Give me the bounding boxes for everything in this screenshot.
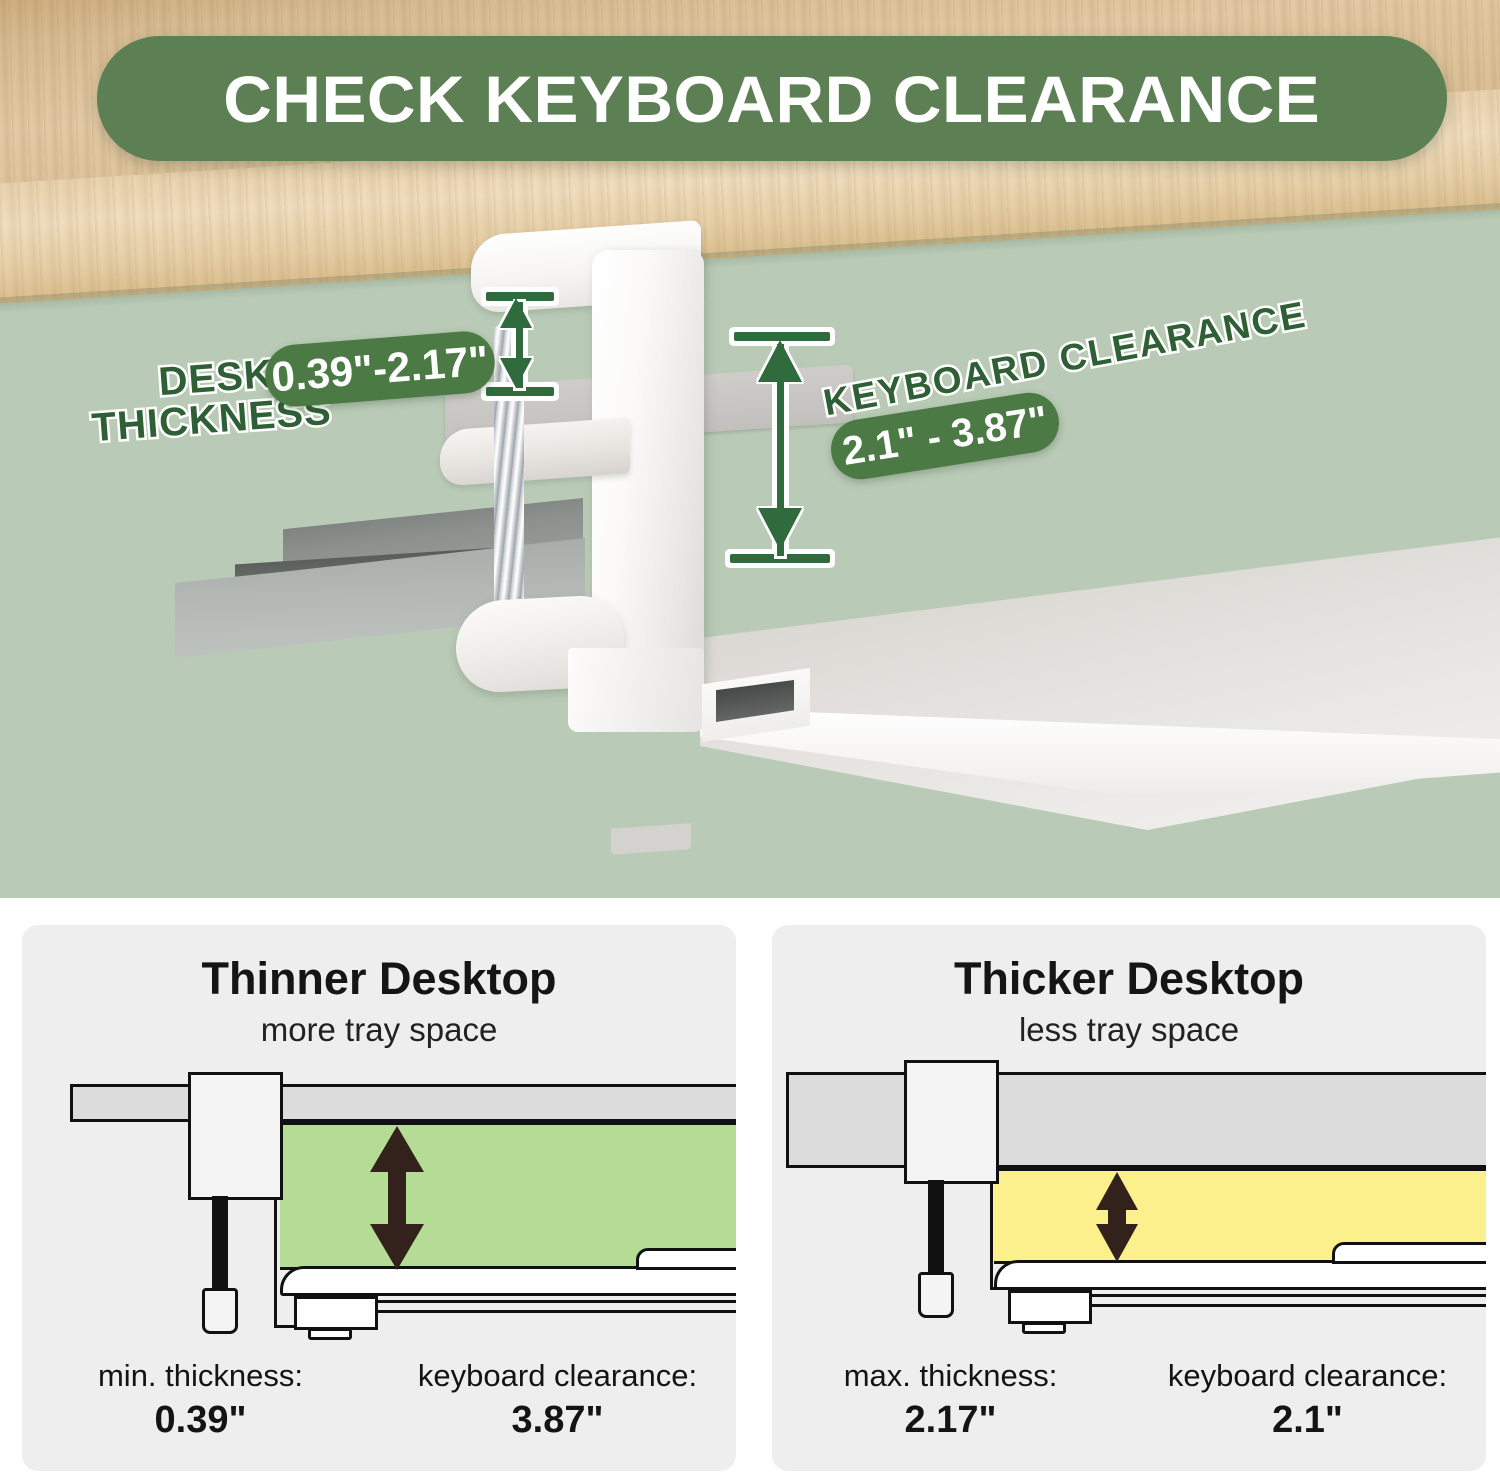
panel-subtitle: more tray space <box>22 1011 736 1049</box>
panel-title: Thinner Desktop <box>22 953 736 1005</box>
tray-bracket-box <box>294 1296 378 1330</box>
tray-underline-2 <box>332 1310 736 1313</box>
panel-footer: min. thickness: 0.39" keyboard clearance… <box>22 1357 736 1445</box>
page-title-banner: CHECK KEYBOARD CLEARANCE <box>97 36 1447 161</box>
desk-thickness-arrow-icon <box>498 292 542 396</box>
keyboard-clearance-caption: KEYBOARD CLEARANCE <box>820 294 1310 425</box>
footer-value: 0.39" <box>22 1396 379 1445</box>
page-title: CHECK KEYBOARD CLEARANCE <box>224 61 1321 137</box>
clamp-knob-foot <box>202 1288 238 1334</box>
footer-col-clearance: keyboard clearance: 2.1" <box>1129 1357 1486 1445</box>
clamp-box <box>904 1060 999 1184</box>
hero-illustration: DESK THICKNESS KEYBOARD CLEARANCE 0.39"-… <box>0 0 1500 898</box>
infographic-page: DESK THICKNESS KEYBOARD CLEARANCE 0.39"-… <box>0 0 1500 1479</box>
panel-title: Thicker Desktop <box>772 953 1486 1005</box>
footer-col-thickness: max. thickness: 2.17" <box>772 1357 1129 1445</box>
desktop-slab-thick <box>786 1072 1486 1168</box>
clamp-screw <box>212 1196 228 1294</box>
footer-label: max. thickness: <box>772 1357 1129 1396</box>
tray-bracket-nub <box>1022 1322 1066 1334</box>
footer-label: min. thickness: <box>22 1357 379 1396</box>
clearance-arrow-icon <box>352 1124 442 1272</box>
clamp-box <box>188 1072 283 1200</box>
desktop-slab-thin <box>70 1084 736 1122</box>
panel-thicker-desktop: Thicker Desktop less tray space <box>772 925 1486 1471</box>
panel-thinner-desktop: Thinner Desktop more tray space <box>22 925 736 1471</box>
tray-lip <box>611 823 691 855</box>
footer-value: 3.87" <box>379 1396 736 1445</box>
panel-footer: max. thickness: 2.17" keyboard clearance… <box>772 1357 1486 1445</box>
keyboard-outline <box>636 1248 736 1270</box>
tray-plate <box>994 1260 1486 1290</box>
footer-col-clearance: keyboard clearance: 3.87" <box>379 1357 736 1445</box>
clearance-arrow-icon <box>1072 1170 1162 1264</box>
footer-col-thickness: min. thickness: 0.39" <box>22 1357 379 1445</box>
tray-bracket-box <box>1008 1290 1092 1324</box>
clamp-foot <box>568 648 704 732</box>
footer-label: keyboard clearance: <box>1129 1357 1486 1396</box>
diagram-thinner <box>22 1060 736 1330</box>
comparison-panels: Thinner Desktop more tray space <box>0 915 1500 1479</box>
footer-label: keyboard clearance: <box>379 1357 736 1396</box>
footer-value: 2.17" <box>772 1396 1129 1445</box>
tray-plate <box>280 1266 736 1296</box>
keyboard-outline <box>1332 1242 1486 1264</box>
tray-bracket-nub <box>308 1328 352 1340</box>
diagram-thicker <box>772 1060 1486 1330</box>
tray-underline-1 <box>1024 1294 1486 1297</box>
clamp-rail-connector <box>274 1198 296 1328</box>
tray-underline-2 <box>1046 1304 1486 1307</box>
panel-subtitle: less tray space <box>772 1011 1486 1049</box>
clamp-screw <box>928 1180 944 1278</box>
keyboard-clearance-arrow-icon <box>752 332 812 564</box>
clamp-knob-foot <box>918 1272 954 1318</box>
footer-value: 2.1" <box>1129 1396 1486 1445</box>
